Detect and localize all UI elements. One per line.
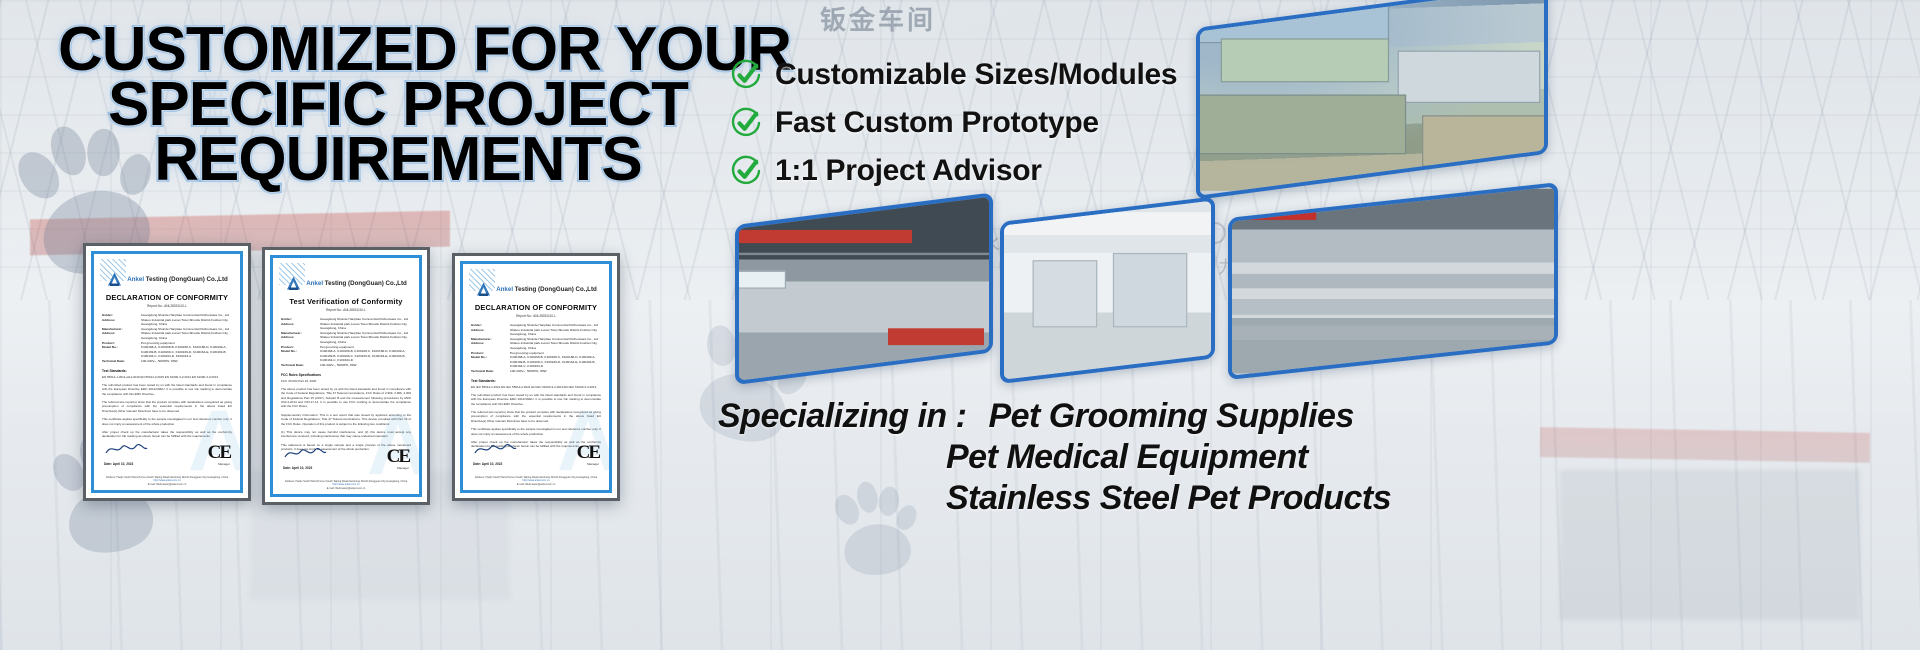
row-value: 100-240V~, 50/60Hz, 80W xyxy=(320,363,411,368)
certificate-brand: Ankel xyxy=(306,280,323,287)
table-row: Technical Data:100-240V~, 50/60Hz, 80W xyxy=(471,369,601,374)
green-check-circle-icon xyxy=(730,107,762,139)
row-value: Shatou Industrial park,Lunan Town,Shunde… xyxy=(510,328,601,337)
table-row: Address:Shatou Industrial park,Lunan Tow… xyxy=(102,331,232,340)
table-row: Technical Data:100-240V~, 50/60Hz, 80W xyxy=(102,359,232,364)
row-key: Technical Data: xyxy=(102,359,136,364)
row-value: Shatou Industrial park,Lunan Town,Shunde… xyxy=(141,318,232,327)
row-value: K100168-A, K100168-B, K100168-C, K100168… xyxy=(510,355,601,369)
ce-mark-icon: CE xyxy=(387,446,409,468)
certificate-declaration-of-conformity: A Ankel Testing (DongGuan) Co.,Ltd DECLA… xyxy=(83,243,251,501)
certificate-brand: Ankel xyxy=(127,276,144,283)
row-key: Model No.: xyxy=(471,355,505,369)
certificate-footer: Address: Haojin South Plaza,Humen,South … xyxy=(100,476,234,486)
certificate-section-body: EN 55014-1:2011+A11:2016 EN 55014-2:2015… xyxy=(102,375,232,379)
table-row: Address:Shatou Industrial park,Lunan Tow… xyxy=(471,328,601,337)
table-row: Model No.:K100168-A, K100168-B, K100168-… xyxy=(471,355,601,369)
signature-icon xyxy=(283,448,327,465)
row-value: Shatou Industrial park,Lunan Town,Shunde… xyxy=(320,335,411,344)
table-row: Model No.:K100168-A, K100168-B, K100168-… xyxy=(281,349,411,363)
certificate-section-body: EN IEC 55014-1:2021 EN IEC 55014-2:2021 … xyxy=(471,385,601,389)
aerial-factory-photo xyxy=(1196,0,1548,200)
ce-mark-icon: CE xyxy=(577,442,599,464)
certificate-brand: Ankel xyxy=(496,286,513,293)
table-row: Model No.:K100168-A, K100168-B, K100168-… xyxy=(102,345,232,359)
row-key: Address: xyxy=(102,318,136,327)
backdrop-red-banner-secondary xyxy=(1540,427,1870,463)
list-item-label: 1:1 Project Advisor xyxy=(775,154,1042,188)
certificate-date: Date: April 10, 2023 xyxy=(104,462,148,466)
table-row: Address:Shatou Industrial park,Lunan Tow… xyxy=(281,335,411,344)
list-item: 1:1 Project Advisor xyxy=(730,148,1177,194)
certificate-title: Test Verification of Conformity xyxy=(281,297,411,306)
backdrop-machine-shape xyxy=(1560,470,1860,620)
row-key: Address: xyxy=(281,322,315,331)
certificate-corner-ornament xyxy=(469,269,495,291)
certificate-declaration-of-conformity-2: A Ankel Testing (DongGuan) Co.,Ltd DECLA… xyxy=(452,253,620,501)
certificate-corner-ornament xyxy=(100,259,126,281)
certificate-corner-ornament xyxy=(279,263,305,285)
signature-icon xyxy=(104,444,148,461)
certificate-section-title: Test Standards: xyxy=(471,379,601,383)
list-item-label: Customizable Sizes/Modules xyxy=(775,58,1177,92)
row-key: Address: xyxy=(281,335,315,344)
certificate-footer: Address: Haojin South Plaza,Humen,South … xyxy=(469,476,603,486)
promo-banner: 钣金车间 SANBAO 永远的用户第一 只愿为中国制造的成功尽绵薄之力 xyxy=(0,0,1920,650)
specialization-block: Specializing in :Pet Grooming Supplies P… xyxy=(718,396,1391,519)
backdrop-workshop-sign: 钣金车间 xyxy=(820,0,936,37)
row-value: 100-240V~, 50/60Hz, 80W xyxy=(510,369,601,374)
feature-list: Customizable Sizes/Modules Fast Custom P… xyxy=(730,52,1177,196)
certificate-report-number: Report No.: ANL28031110-L xyxy=(102,304,232,308)
row-key: Address: xyxy=(471,341,505,350)
row-value: Shatou Industrial park,Lunan Town,Shunde… xyxy=(141,331,232,340)
row-value: Shatou Industrial park,Lunan Town,Shunde… xyxy=(510,341,601,350)
certificate-footer-mail: E-mail: Webmaster@ankel.com.cn xyxy=(469,483,603,486)
row-key: Address: xyxy=(102,331,136,340)
signature-icon xyxy=(473,444,517,461)
certificate-detail-table: Holder:Guangdong Shunde Hanpbao Commerci… xyxy=(102,313,232,364)
row-key: Model No.: xyxy=(281,349,315,363)
row-value: K100168-A, K100168-B, K100168-C, K100168… xyxy=(141,345,232,359)
row-key: Model No.: xyxy=(102,345,136,359)
certificate-company-rest: Testing (DongGuan) Co.,Ltd xyxy=(146,276,228,283)
clinic-showroom-photo xyxy=(1000,196,1215,384)
green-check-circle-icon xyxy=(730,59,762,91)
certificate-company: Ankel Testing (DongGuan) Co.,Ltd xyxy=(306,280,407,287)
certificate-company-rest: Testing (DongGuan) Co.,Ltd xyxy=(325,280,407,287)
row-value: K100168-A, K100168-B, K100168-C, K100168… xyxy=(320,349,411,363)
certificate-company-rest: Testing (DongGuan) Co.,Ltd xyxy=(515,286,597,293)
table-row: Technical Data:100-240V~, 50/60Hz, 80W xyxy=(281,363,411,368)
certificate-detail-table: Holder:Guangdong Shunde Hanpbao Commerci… xyxy=(471,323,601,374)
certificate-date: Date: April 10, 2023 xyxy=(473,462,517,466)
green-check-circle-icon xyxy=(730,155,762,187)
warehouse-photo xyxy=(1228,182,1558,380)
certificate-section-title: FCC Rules Specifications xyxy=(281,373,411,377)
row-key: Address: xyxy=(471,328,505,337)
list-item: Customizable Sizes/Modules xyxy=(730,52,1177,98)
certificate-test-verification-of-conformity: A Ankel Testing (DongGuan) Co.,Ltd Test … xyxy=(262,247,430,505)
specialization-line-1: Specializing in :Pet Grooming Supplies xyxy=(718,396,1391,437)
row-key: Technical Data: xyxy=(281,363,315,368)
certificate-date: Date: April 10, 2023 xyxy=(283,466,327,470)
headline-line-2: SPECIFIC PROJECT xyxy=(58,77,738,132)
certificate-footer-mail: E-mail: Webmaster@ankel.com.cn xyxy=(279,487,413,490)
specialization-line-2: Pet Medical Equipment xyxy=(718,437,1391,478)
table-row: Address:Shatou Industrial park,Lunan Tow… xyxy=(471,341,601,350)
certificate-report-number: Report No.: ANL28031110-L xyxy=(471,314,601,318)
page-title: CUSTOMIZED FOR YOUR SPECIFIC PROJECT REQ… xyxy=(58,22,738,187)
certificate-footer: Address: Haojin South Plaza,Humen,South … xyxy=(279,480,413,490)
certificate-section-title: Test Standards: xyxy=(102,369,232,373)
certificate-footer-mail: E-mail: Webmaster@ankel.com.cn xyxy=(100,483,234,486)
certificate-report-number: Report No.: ANL28031110-L xyxy=(281,308,411,312)
specialization-line-3: Stainless Steel Pet Products xyxy=(718,478,1391,519)
headline-line-3: REQUIREMENTS xyxy=(58,132,738,187)
list-item-label: Fast Custom Prototype xyxy=(775,106,1099,140)
specialization-item: Pet Grooming Supplies xyxy=(988,397,1353,435)
table-row: Address:Shatou Industrial park,Lunan Tow… xyxy=(102,318,232,327)
certificate-company: Ankel Testing (DongGuan) Co.,Ltd xyxy=(127,276,228,283)
table-row: Address:Shatou Industrial park,Lunan Tow… xyxy=(281,322,411,331)
production-hall-photo xyxy=(735,192,993,385)
certificate-title: DECLARATION OF CONFORMITY xyxy=(471,303,601,312)
row-key: Technical Data: xyxy=(471,369,505,374)
certificate-title: DECLARATION OF CONFORMITY xyxy=(102,293,232,302)
certificate-company: Ankel Testing (DongGuan) Co.,Ltd xyxy=(496,286,597,293)
specialization-lead: Specializing in : xyxy=(718,397,966,435)
certificate-section-body: FCC 47CFR Part 15, 2020 xyxy=(281,379,411,383)
row-value: Shatou Industrial park,Lunan Town,Shunde… xyxy=(320,322,411,331)
list-item: Fast Custom Prototype xyxy=(730,100,1177,146)
certificate-detail-table: Holder:Guangdong Shunde Hanpbao Commerci… xyxy=(281,317,411,368)
row-value: 100-240V~, 50/60Hz, 80W xyxy=(141,359,232,364)
headline-line-1: CUSTOMIZED FOR YOUR xyxy=(58,22,738,77)
ce-mark-icon: CE xyxy=(208,442,230,464)
